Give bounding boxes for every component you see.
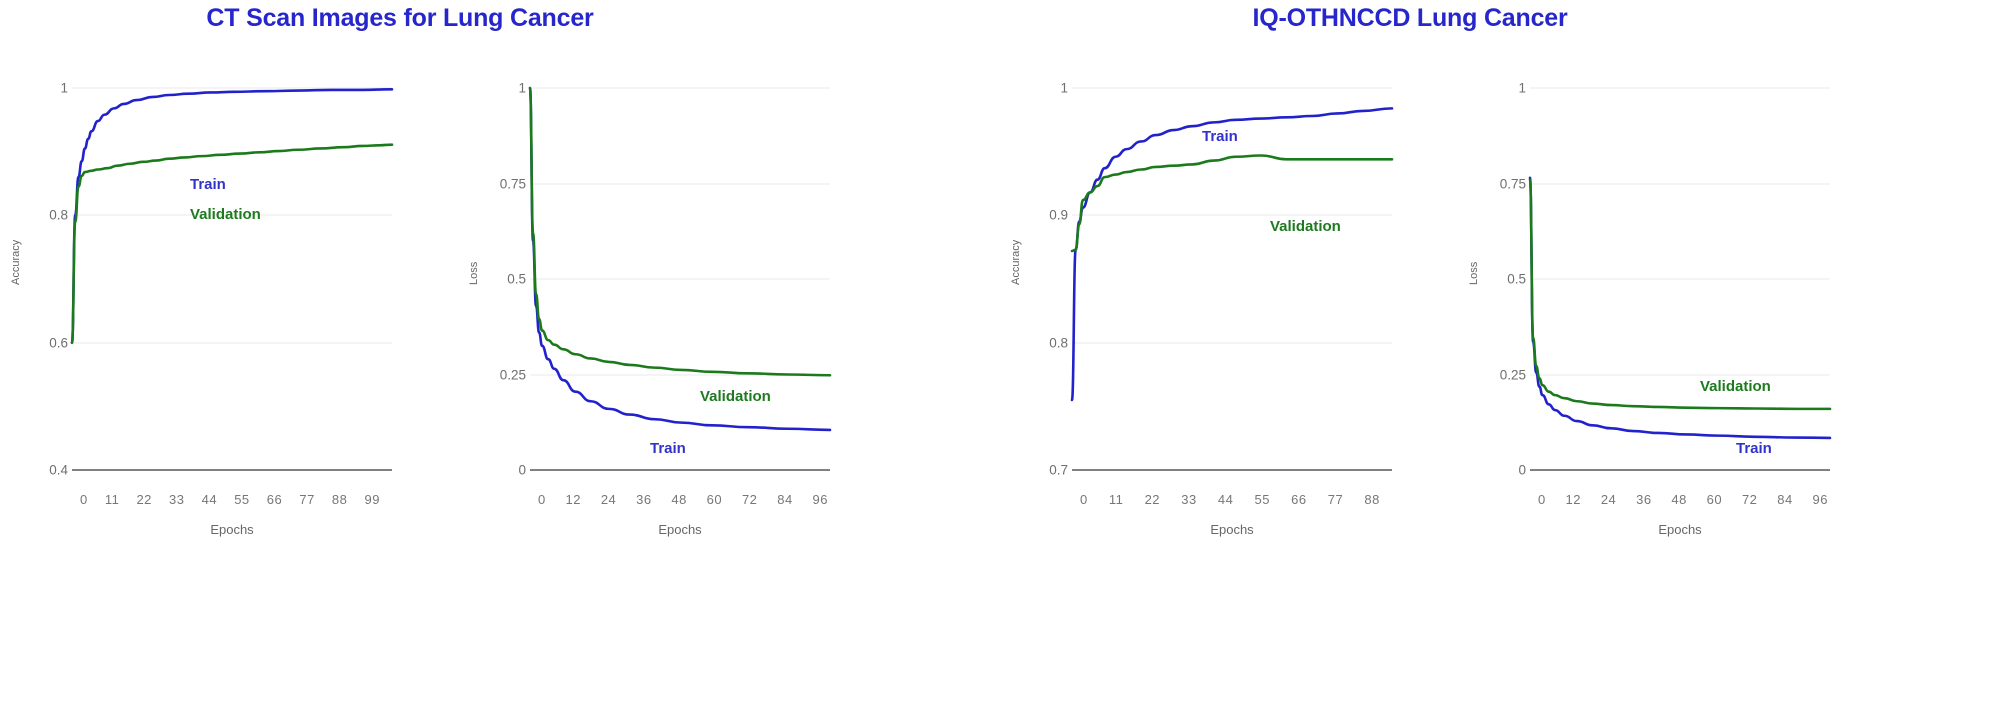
x-tick-label: 24 xyxy=(601,492,616,507)
y-tick-label: 0.9 xyxy=(1049,208,1068,223)
figure-root: CT Scan Images for Lung Cancer IQ-OTHNCC… xyxy=(0,0,1996,712)
y-tick-label: 0.25 xyxy=(500,367,526,382)
x-tick-label: 33 xyxy=(169,492,184,507)
x-tick-label: 12 xyxy=(1566,492,1581,507)
y-axis-label: Accuracy xyxy=(10,265,22,285)
plot-area xyxy=(530,88,830,470)
y-tick-label: 1 xyxy=(518,81,526,96)
x-axis-label: Epochs xyxy=(1530,522,1830,537)
x-tick-label: 48 xyxy=(1671,492,1686,507)
x-tick-label: 88 xyxy=(1364,492,1379,507)
series-annotation-train: Train xyxy=(1736,440,1772,457)
y-axis-label: Accuracy xyxy=(1010,265,1022,285)
chart-ct-accuracy: Accuracy10.80.60.4TrainValidation0112233… xyxy=(0,60,430,700)
x-tick-label: 11 xyxy=(105,492,120,507)
series-curves xyxy=(72,88,392,470)
x-tick-label: 72 xyxy=(742,492,757,507)
y-tick-label: 0.7 xyxy=(1049,463,1068,478)
x-axis-label: Epochs xyxy=(72,522,392,537)
x-tick-label: 22 xyxy=(1145,492,1160,507)
x-tick-label: 55 xyxy=(234,492,249,507)
y-tick-label: 0.6 xyxy=(49,335,68,350)
y-tick-label: 1 xyxy=(1518,81,1526,96)
y-tick-label: 0.5 xyxy=(507,272,526,287)
series-annotation-validation: Validation xyxy=(1270,218,1341,235)
x-tick-label: 88 xyxy=(332,492,347,507)
plot-area xyxy=(1530,88,1830,470)
series-line-train xyxy=(1072,108,1392,400)
plot-area xyxy=(72,88,392,470)
y-axis-ticks: 10.750.50.250 xyxy=(486,60,526,700)
y-tick-label: 1 xyxy=(1060,81,1068,96)
x-tick-label: 22 xyxy=(136,492,151,507)
chart-iq-accuracy: Accuracy10.90.80.7TrainValidation0112233… xyxy=(1000,60,1430,700)
y-axis-label: Loss xyxy=(1468,265,1480,285)
series-annotation-train: Train xyxy=(190,176,226,193)
x-tick-label: 48 xyxy=(671,492,686,507)
series-curves xyxy=(1530,88,1830,470)
series-line-validation xyxy=(530,88,830,375)
series-line-validation xyxy=(1072,155,1392,251)
x-tick-label: 96 xyxy=(813,492,828,507)
x-axis-ticks: 01224364860728496 xyxy=(1538,492,1828,507)
series-line-validation xyxy=(72,145,392,343)
x-tick-label: 0 xyxy=(1538,492,1546,507)
x-tick-label: 66 xyxy=(1291,492,1306,507)
series-curves xyxy=(1072,88,1392,470)
x-tick-label: 36 xyxy=(636,492,651,507)
x-tick-label: 72 xyxy=(1742,492,1757,507)
y-tick-label: 0 xyxy=(518,463,526,478)
x-tick-label: 96 xyxy=(1813,492,1828,507)
x-tick-label: 66 xyxy=(267,492,282,507)
y-tick-label: 0.8 xyxy=(49,208,68,223)
panel-title-left: CT Scan Images for Lung Cancer xyxy=(0,4,800,33)
x-tick-label: 77 xyxy=(1328,492,1343,507)
panel-title-right: IQ-OTHNCCD Lung Cancer xyxy=(1010,4,1810,33)
x-tick-label: 0 xyxy=(538,492,546,507)
x-tick-label: 36 xyxy=(1636,492,1651,507)
x-tick-label: 55 xyxy=(1255,492,1270,507)
x-tick-label: 11 xyxy=(1109,492,1124,507)
y-tick-label: 0 xyxy=(1518,463,1526,478)
series-line-train xyxy=(530,88,830,430)
series-annotation-validation: Validation xyxy=(190,206,261,223)
x-tick-label: 0 xyxy=(80,492,88,507)
series-annotation-validation: Validation xyxy=(1700,378,1771,395)
y-axis-ticks: 10.90.80.7 xyxy=(1028,60,1068,700)
x-tick-label: 99 xyxy=(365,492,380,507)
series-line-validation xyxy=(1530,180,1830,409)
y-axis-label: Loss xyxy=(468,265,480,285)
chart-iq-loss: Loss10.750.50.250ValidationTrain01224364… xyxy=(1430,60,1860,700)
series-curves xyxy=(530,88,830,470)
x-tick-label: 84 xyxy=(777,492,792,507)
x-axis-label: Epochs xyxy=(1072,522,1392,537)
y-tick-label: 0.5 xyxy=(1507,272,1526,287)
x-tick-label: 24 xyxy=(1601,492,1616,507)
chart-ct-loss: Loss10.750.50.250ValidationTrain01224364… xyxy=(430,60,860,700)
x-tick-label: 44 xyxy=(1218,492,1233,507)
y-axis-ticks: 10.750.50.250 xyxy=(1486,60,1526,700)
y-tick-label: 0.4 xyxy=(49,463,68,478)
series-annotation-train: Train xyxy=(1202,128,1238,145)
series-annotation-train: Train xyxy=(650,440,686,457)
x-tick-label: 12 xyxy=(566,492,581,507)
y-tick-label: 0.75 xyxy=(500,176,526,191)
x-tick-label: 84 xyxy=(1777,492,1792,507)
x-axis-label: Epochs xyxy=(530,522,830,537)
x-tick-label: 60 xyxy=(1707,492,1722,507)
x-tick-label: 60 xyxy=(707,492,722,507)
x-tick-label: 33 xyxy=(1181,492,1196,507)
x-tick-label: 44 xyxy=(202,492,217,507)
x-tick-label: 0 xyxy=(1080,492,1088,507)
plot-area xyxy=(1072,88,1392,470)
y-tick-label: 0.8 xyxy=(1049,335,1068,350)
y-tick-label: 1 xyxy=(60,81,68,96)
series-annotation-validation: Validation xyxy=(700,388,771,405)
x-axis-ticks: 01224364860728496 xyxy=(538,492,828,507)
y-tick-label: 0.75 xyxy=(1500,176,1526,191)
x-axis-ticks: 0112233445566778899 xyxy=(80,492,380,507)
y-tick-label: 0.25 xyxy=(1500,367,1526,382)
series-line-train xyxy=(1530,178,1830,438)
x-tick-label: 77 xyxy=(299,492,314,507)
y-axis-ticks: 10.80.60.4 xyxy=(28,60,68,700)
x-axis-ticks: 01122334455667788 xyxy=(1080,492,1380,507)
